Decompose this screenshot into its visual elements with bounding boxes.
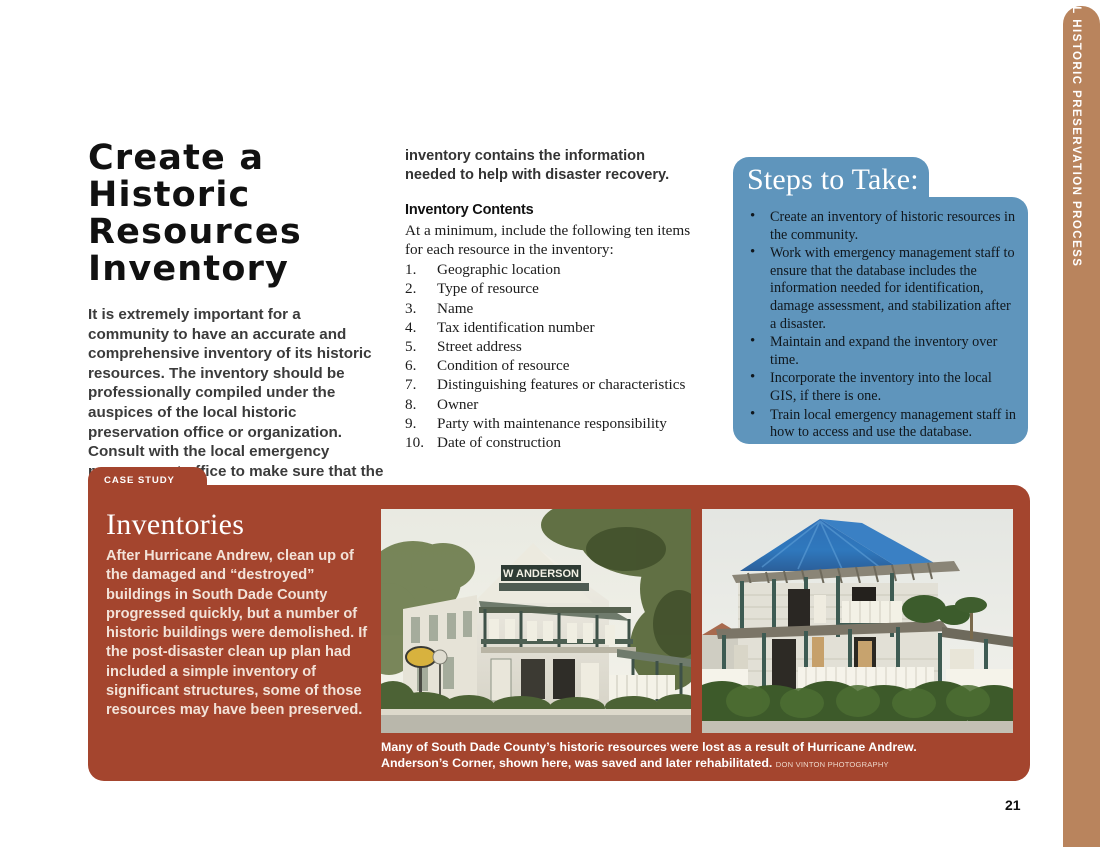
inventory-list-item: 9.Party with maintenance responsibility bbox=[405, 414, 695, 433]
inventory-list-item-label: Distinguishing features or characteristi… bbox=[437, 376, 685, 393]
inventory-list-item-label: Date of construction bbox=[437, 434, 561, 451]
inventory-list-item-label: Type of resource bbox=[437, 280, 539, 297]
steps-to-take-item-label: Train local emergency management staff i… bbox=[770, 407, 1016, 441]
inventory-list-item-label: Party with maintenance responsibility bbox=[437, 415, 667, 432]
bullet-icon: • bbox=[750, 208, 755, 226]
inventory-list-item-label: Name bbox=[437, 300, 473, 317]
steps-to-take-item-label: Maintain and expand the inventory over t… bbox=[770, 334, 997, 368]
inventory-list-item-number: 9. bbox=[405, 414, 431, 433]
article-lead-paragraph: It is extremely important for a communit… bbox=[88, 305, 384, 481]
photo-tarp bbox=[702, 509, 1013, 733]
bullet-icon: • bbox=[750, 333, 755, 351]
inventory-list-item-label: Geographic location bbox=[437, 261, 561, 278]
inventory-list-item: 8.Owner bbox=[405, 395, 695, 414]
page-title: Create a Historic Resources Inventory bbox=[88, 140, 384, 288]
section-side-tab-label: ENHANCING THE LOCAL HISTORIC PRESERVATIO… bbox=[1070, 0, 1082, 267]
bullet-icon: • bbox=[750, 244, 755, 262]
steps-to-take-box: Steps to Take: •Create an inventory of h… bbox=[733, 157, 1028, 444]
inventory-list-item-label: Tax identification number bbox=[437, 319, 595, 336]
page-number: 21 bbox=[1005, 797, 1021, 813]
steps-to-take-item-label: Create an inventory of historic resource… bbox=[770, 209, 1015, 243]
photo-tarp-illustration bbox=[702, 509, 1013, 733]
inventory-list-item-number: 4. bbox=[405, 318, 431, 337]
inventory-list-item-number: 10. bbox=[405, 433, 431, 452]
inventory-list-item-number: 7. bbox=[405, 375, 431, 394]
page-title-line-3: Resources bbox=[88, 214, 384, 251]
article-column-middle: inventory contains the information neede… bbox=[405, 147, 695, 452]
inventory-list-item-label: Owner bbox=[437, 396, 478, 413]
steps-to-take-item-label: Incorporate the inventory into the local… bbox=[770, 370, 992, 404]
inventory-list-item-number: 3. bbox=[405, 299, 431, 318]
svg-text:W ANDERSON: W ANDERSON bbox=[503, 568, 579, 580]
inventory-list-item-label: Condition of resource bbox=[437, 357, 569, 374]
article-column-left: Create a Historic Resources Inventory It… bbox=[88, 140, 384, 481]
bullet-icon: • bbox=[750, 369, 755, 387]
inventory-contents-list: 1.Geographic location2.Type of resource3… bbox=[405, 260, 695, 452]
inventory-list-item: 2.Type of resource bbox=[405, 279, 695, 298]
inventory-list-item-number: 5. bbox=[405, 337, 431, 356]
photo-credit: DON VINTON PHOTOGRAPHY bbox=[776, 760, 889, 769]
article-lead-continued: inventory contains the information neede… bbox=[405, 147, 695, 186]
inventory-list-item: 3.Name bbox=[405, 299, 695, 318]
inventory-list-item-number: 6. bbox=[405, 356, 431, 375]
inventory-list-item: 5.Street address bbox=[405, 337, 695, 356]
page-title-line-4: Inventory bbox=[88, 251, 384, 288]
case-study-caption: Many of South Dade County’s historic res… bbox=[381, 740, 981, 772]
case-study-body-text: After Hurricane Andrew, clean up of the … bbox=[106, 547, 378, 721]
document-page: ENHANCING THE LOCAL HISTORIC PRESERVATIO… bbox=[0, 0, 1100, 847]
inventory-list-item: 10.Date of construction bbox=[405, 433, 695, 452]
steps-to-take-item: •Create an inventory of historic resourc… bbox=[747, 209, 1019, 244]
steps-to-take-item-label: Work with emergency management staff to … bbox=[770, 245, 1015, 331]
inventory-contents-heading: Inventory Contents bbox=[405, 202, 695, 218]
inventory-list-intro: At a minimum, include the following ten … bbox=[405, 221, 695, 259]
bullet-icon: • bbox=[750, 406, 755, 424]
inventory-list-item-number: 8. bbox=[405, 395, 431, 414]
steps-to-take-item: •Incorporate the inventory into the loca… bbox=[747, 370, 1019, 405]
inventory-list-item-number: 2. bbox=[405, 279, 431, 298]
section-side-tab: ENHANCING THE LOCAL HISTORIC PRESERVATIO… bbox=[1063, 6, 1100, 847]
inventory-list-item-label: Street address bbox=[437, 338, 522, 355]
photo-anderson: W ANDERSON bbox=[381, 509, 691, 733]
case-study-title: Inventories bbox=[106, 508, 244, 542]
page-title-line-2: Historic bbox=[88, 177, 384, 214]
inventory-list-item: 1.Geographic location bbox=[405, 260, 695, 279]
steps-to-take-list: •Create an inventory of historic resourc… bbox=[747, 209, 1019, 443]
inventory-list-item: 4.Tax identification number bbox=[405, 318, 695, 337]
inventory-list-item-number: 1. bbox=[405, 260, 431, 279]
inventory-list-item: 7.Distinguishing features or characteris… bbox=[405, 375, 695, 394]
steps-to-take-title: Steps to Take: bbox=[747, 163, 919, 197]
photo-anderson-illustration: W ANDERSON bbox=[381, 509, 691, 733]
steps-to-take-item: •Maintain and expand the inventory over … bbox=[747, 334, 1019, 369]
steps-to-take-item: •Train local emergency management staff … bbox=[747, 407, 1019, 442]
inventory-list-item: 6.Condition of resource bbox=[405, 356, 695, 375]
steps-to-take-item: •Work with emergency management staff to… bbox=[747, 245, 1019, 333]
page-title-line-1: Create a bbox=[88, 140, 384, 177]
